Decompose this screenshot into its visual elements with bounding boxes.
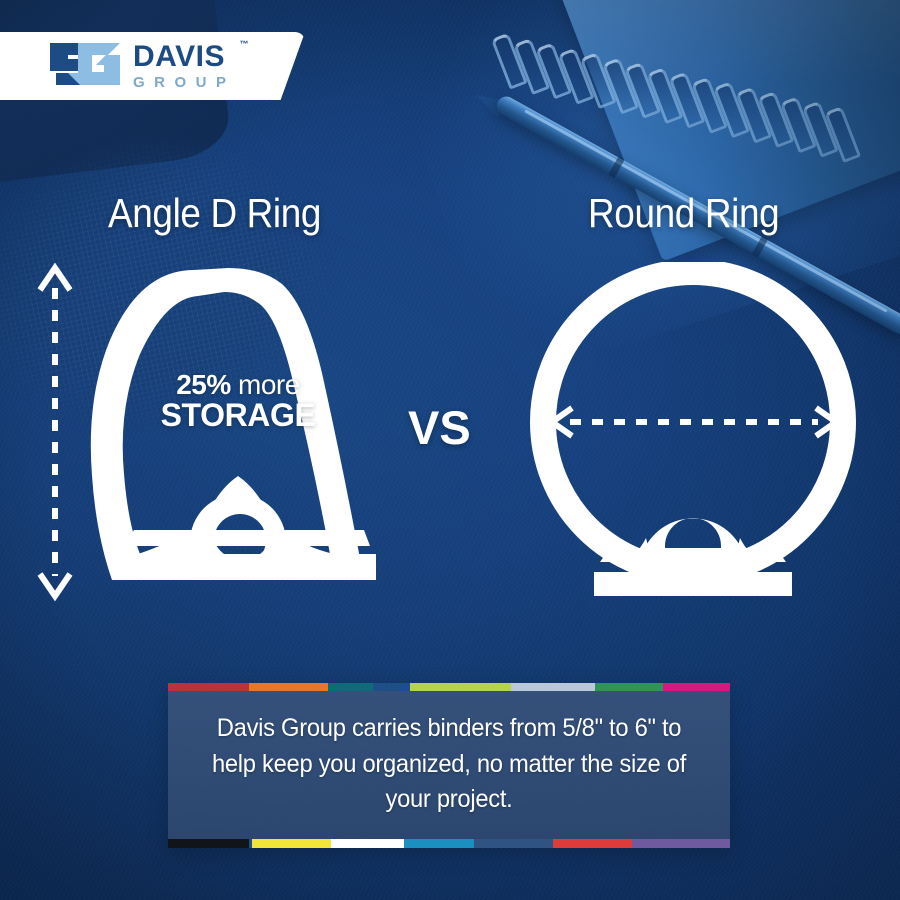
color-strip-segment (328, 683, 373, 691)
color-strip-segment (511, 683, 595, 691)
trademark-symbol: ™ (240, 40, 249, 49)
vertical-dimension-arrow-icon (32, 262, 78, 607)
storage-callout-line2: STORAGE (143, 399, 333, 432)
color-strip-segment (168, 839, 249, 848)
color-strip-segment (168, 683, 249, 691)
brand-logo-banner[interactable]: DAVIS™ GROUP (0, 32, 305, 100)
color-strip-segment (553, 839, 632, 848)
angle-d-ring-diagram: 25% more STORAGE (78, 262, 398, 602)
color-strip-segment (404, 839, 474, 848)
dg-monogram-icon (48, 41, 122, 92)
color-strip-segment (252, 839, 331, 848)
color-strip-segment (474, 839, 553, 848)
color-strip-top (168, 683, 730, 691)
color-strip-bottom (168, 839, 730, 848)
promotional-graphic: DAVIS™ GROUP Angle D Ring Round Ring (0, 0, 900, 900)
storage-callout: 25% more STORAGE (143, 370, 333, 432)
caption-text: Davis Group carries binders from 5/8" to… (205, 711, 693, 818)
caption-box: Davis Group carries binders from 5/8" to… (168, 683, 730, 848)
color-strip-segment (595, 683, 662, 691)
color-strip-segment (663, 683, 730, 691)
brand-name-primary: DAVIS™ (133, 42, 236, 72)
color-strip-segment (373, 683, 410, 691)
storage-callout-line1: 25% more (143, 370, 333, 399)
brand-name-secondary: GROUP (133, 75, 236, 90)
brand-wordmark: DAVIS™ GROUP (133, 42, 236, 90)
color-strip-segment (249, 683, 328, 691)
color-strip-segment (632, 839, 730, 848)
horizontal-dimension-arrow-icon (552, 408, 836, 436)
color-strip-segment (331, 839, 404, 848)
versus-label: VS (408, 400, 471, 455)
color-strip-segment (410, 683, 511, 691)
round-ring-diagram (528, 262, 858, 602)
heading-angle-d-ring: Angle D Ring (108, 190, 321, 237)
heading-round-ring: Round Ring (588, 190, 779, 237)
